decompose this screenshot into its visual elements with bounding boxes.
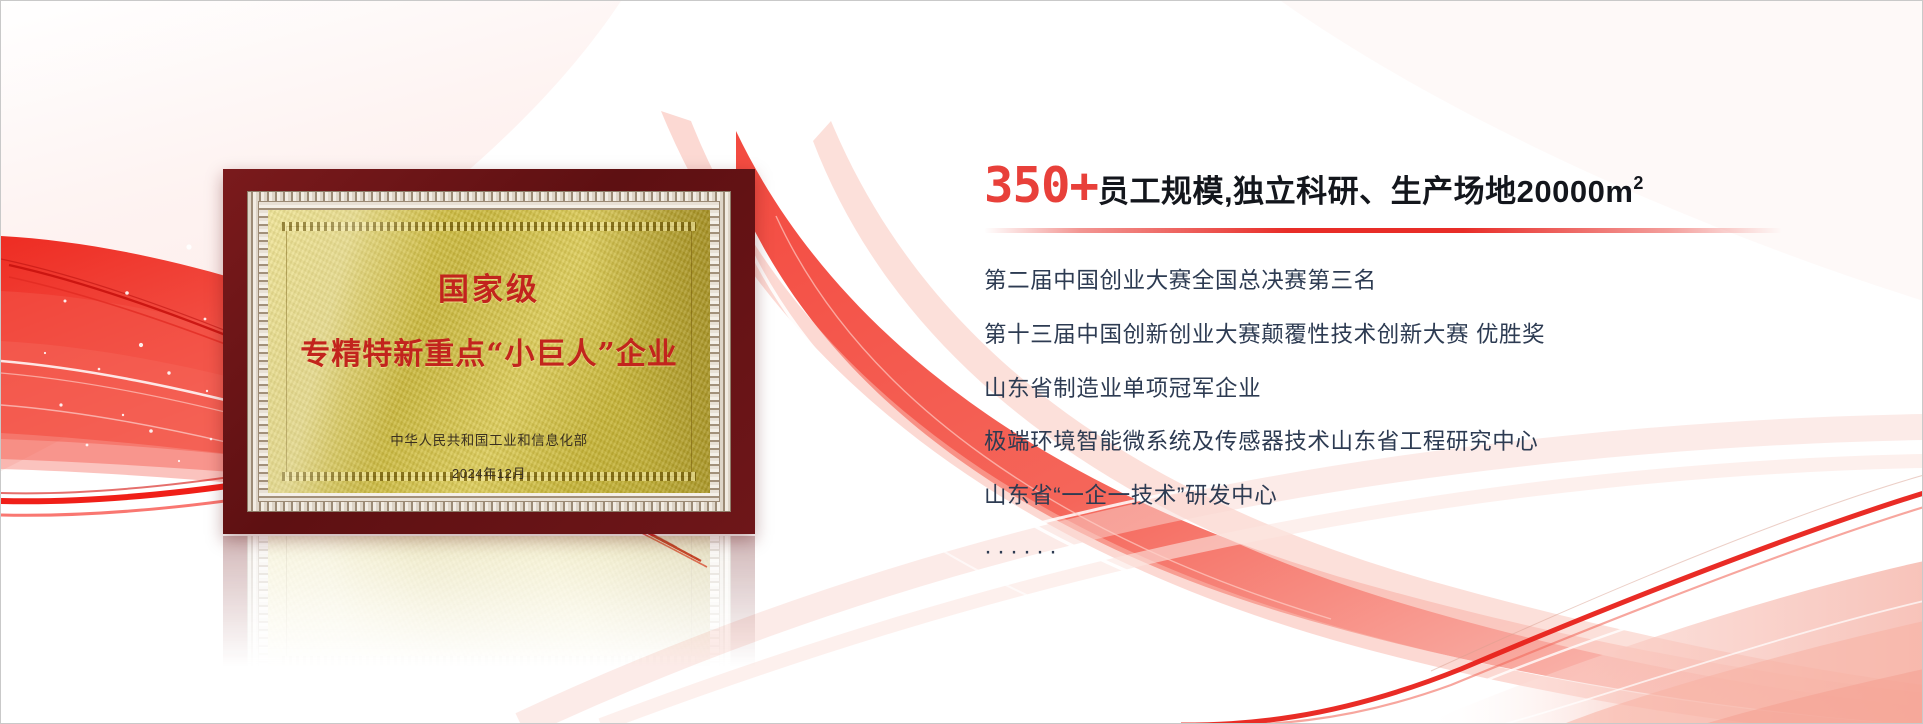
honors-banner: 国家级 专精特新重点“小巨人”企业 中华人民共和国工业和信息化部 2024年12… [0,0,1923,724]
honor-list: 第二届中国创业大赛全国总决赛第三名 第十三届中国创新创业大赛颠覆性技术创新大赛 … [984,269,1864,566]
honor-item: 山东省“一企一技术”研发中心 [984,484,1864,509]
honor-item: 极端环境智能微系统及传感器技术山东省工程研究中心 [984,430,1864,455]
award-plaque: 国家级 专精特新重点“小巨人”企业 中华人民共和国工业和信息化部 2024年12… [223,169,755,534]
employee-count-stat: 350+ [984,161,1098,210]
honor-item: 第十三届中国创新创业大赛颠覆性技术创新大赛 优胜奖 [984,323,1864,348]
square-meter-superscript: 2 [1633,174,1643,192]
plaque-title: 国家级 [438,264,540,309]
honor-item: 第二届中国创业大赛全国总决赛第三名 [984,269,1864,294]
content-column: 350+ 员工规模,独立科研、生产场地20000m 2 第二届中国创业大赛全国总… [984,161,1864,566]
headline: 350+ 员工规模,独立科研、生产场地20000m 2 [984,161,1864,210]
plaque-text-block: 国家级 专精特新重点“小巨人”企业 中华人民共和国工业和信息化部 2024年12… [268,210,710,493]
plaque-frame-inner-band: 国家级 专精特新重点“小巨人”企业 中华人民共和国工业和信息化部 2024年12… [258,201,720,502]
plaque-frame: 国家级 专精特新重点“小巨人”企业 中华人民共和国工业和信息化部 2024年12… [223,169,755,534]
plaque-frame-outer-band [247,536,731,696]
plaque-gold-plate: 国家级 专精特新重点“小巨人”企业 中华人民共和国工业和信息化部 2024年12… [268,210,710,493]
plaque-issuer: 中华人民共和国工业和信息化部 [390,429,587,449]
plaque-gold-plate [268,536,710,677]
honor-list-ellipsis: ······ [984,538,1864,566]
plaque-frame-inner-band [258,536,720,686]
plaque-mirror-image [223,536,755,718]
headline-divider [984,228,1782,233]
plaque-date: 2024年12月 [452,463,526,482]
honor-item: 山东省制造业单项冠军企业 [984,377,1864,402]
headline-description: 员工规模,独立科研、生产场地20000m [1098,176,1633,207]
plaque-subtitle: 专精特新重点“小巨人”企业 [300,329,678,373]
plaque-frame-outer-band: 国家级 专精特新重点“小巨人”企业 中华人民共和国工业和信息化部 2024年12… [247,191,731,512]
plaque-reflection [223,536,755,718]
plaque-engraved-border [286,536,692,661]
